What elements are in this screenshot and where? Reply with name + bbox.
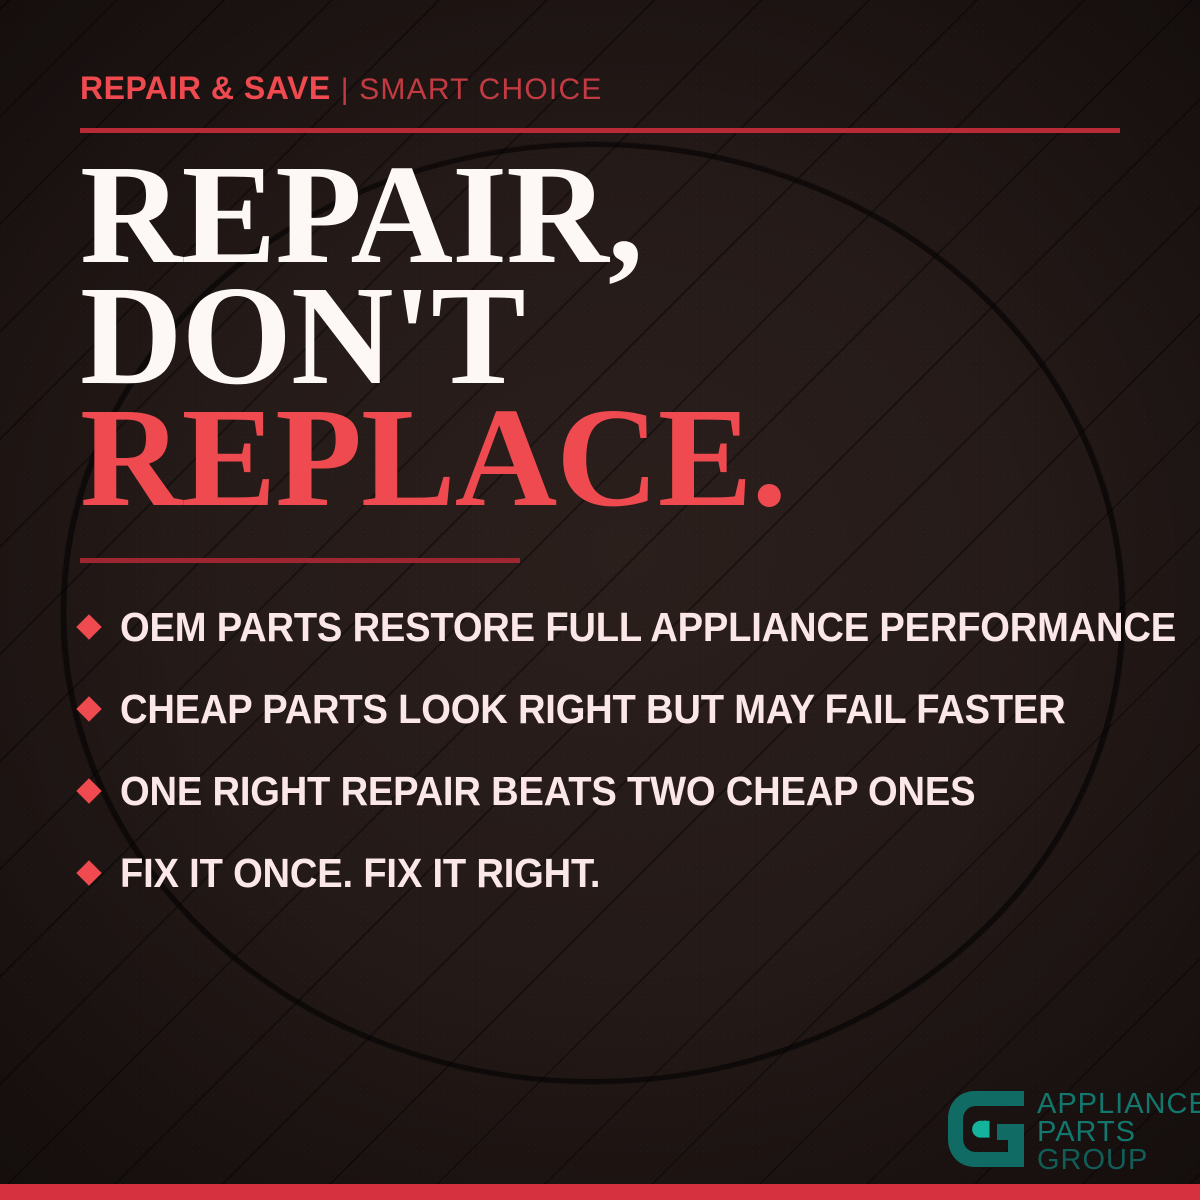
logo-wordmark: APPLIANCE PARTS GROUP <box>1037 1088 1200 1174</box>
eyebrow-sub-label: | SMART CHOICE <box>341 73 603 106</box>
headline: REPAIR, DON'T REPLACE. <box>80 154 786 518</box>
list-item-label: FIX IT ONCE. FIX IT RIGHT. <box>120 853 600 894</box>
diamond-bullet-icon <box>76 614 101 639</box>
list-item: OEM PARTS RESTORE FULL APPLIANCE PERFORM… <box>80 586 1140 668</box>
brand-logo: APPLIANCE PARTS GROUP <box>945 1088 1180 1180</box>
eyebrow-main-label: REPAIR & SAVE <box>80 70 331 106</box>
poster-content: REPAIR & SAVE| SMART CHOICE REPAIR, DON'… <box>0 0 1200 1200</box>
poster-canvas: REPAIR & SAVE| SMART CHOICE REPAIR, DON'… <box>0 0 1200 1200</box>
list-item: FIX IT ONCE. FIX IT RIGHT. <box>80 832 1140 914</box>
logo-word-parts: PARTS <box>1037 1119 1200 1147</box>
list-item: CHEAP PARTS LOOK RIGHT BUT MAY FAIL FAST… <box>80 668 1140 750</box>
list-item-label: CHEAP PARTS LOOK RIGHT BUT MAY FAIL FAST… <box>120 689 1066 730</box>
list-item-label: ONE RIGHT REPAIR BEATS TWO CHEAP ONES <box>120 771 975 812</box>
diamond-bullet-icon <box>76 860 101 885</box>
bottom-accent-bar <box>0 1184 1200 1200</box>
headline-line-3: REPLACE. <box>80 397 786 518</box>
list-item: ONE RIGHT REPAIR BEATS TWO CHEAP ONES <box>80 750 1140 832</box>
diamond-bullet-icon <box>76 778 101 803</box>
logo-word-appliance: APPLIANCE <box>1037 1091 1200 1119</box>
eyebrow: REPAIR & SAVE| SMART CHOICE <box>80 72 603 105</box>
mid-divider-rule <box>80 558 520 563</box>
diamond-bullet-icon <box>76 696 101 721</box>
logo-word-group: GROUP <box>1037 1147 1200 1175</box>
bullet-list: OEM PARTS RESTORE FULL APPLIANCE PERFORM… <box>80 586 1140 914</box>
list-item-label: OEM PARTS RESTORE FULL APPLIANCE PERFORM… <box>120 607 1176 648</box>
logo-g-mark-icon <box>945 1088 1027 1170</box>
header-divider-rule <box>80 128 1120 133</box>
